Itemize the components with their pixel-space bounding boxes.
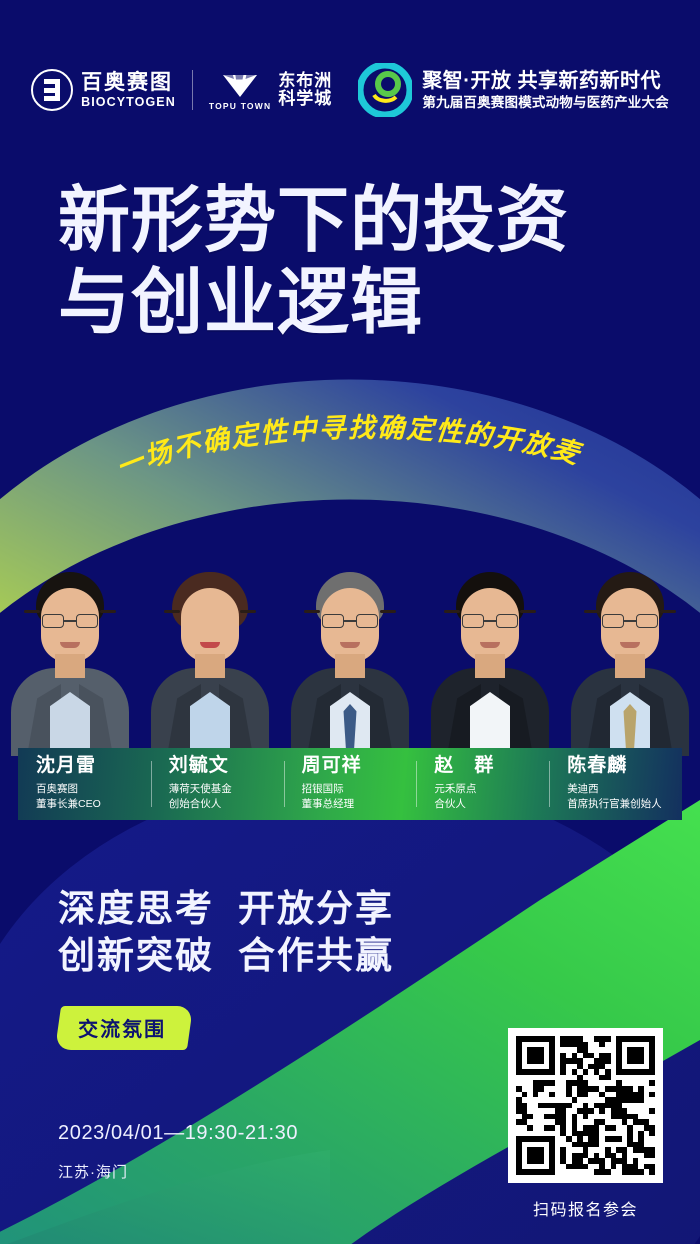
qr-section: 扫码报名参会 — [508, 1028, 663, 1220]
speaker-role: 董事总经理 — [302, 797, 417, 812]
speaker-org: 美迪西 — [567, 782, 682, 797]
logo-divider — [192, 70, 193, 110]
slogan-2a: 创新突破 — [58, 934, 214, 977]
event-datetime: 2023/04/01—19:30-21:30 — [58, 1122, 298, 1145]
qr-code-grid — [516, 1036, 655, 1175]
atmosphere-badge: 交流氛围 — [55, 1006, 193, 1050]
topu-town-logo: TOPU TOWN 东布洲 科学城 — [209, 69, 332, 111]
speaker-photo — [0, 556, 140, 756]
biocytogen-logo-cn: 百奥赛图 — [81, 72, 176, 93]
topu-town-logo-cn-2: 科学城 — [278, 90, 332, 108]
poster-title: 新形势下的投资 与创业逻辑 — [58, 182, 658, 341]
speaker-name: 刘毓文 — [169, 756, 284, 777]
speaker-photo — [560, 556, 700, 756]
event-poster: 百奥赛图 BIOCYTOGEN TOPU TOWN 东布洲 科学城 — [0, 0, 700, 1244]
title-line-2: 与创业逻辑 — [58, 264, 658, 340]
speaker-photo — [140, 556, 280, 756]
speaker-photo — [420, 556, 560, 756]
speaker-role: 创始合伙人 — [169, 797, 284, 812]
script-subtitle: 一场不确定性中寻找确定性的开放麦 — [0, 400, 700, 490]
speaker-name: 周可祥 — [302, 756, 417, 777]
speaker-entry: 陈春麟 美迪西 首席执行官兼创始人 — [549, 748, 682, 820]
header-logos: 百奥赛图 BIOCYTOGEN TOPU TOWN 东布洲 科学城 — [0, 55, 700, 125]
slogan-row-2: 创新突破合作共赢 — [58, 933, 394, 980]
speaker-entry: 周可祥 招银国际 董事总经理 — [284, 748, 417, 820]
biocytogen-logo: 百奥赛图 BIOCYTOGEN — [31, 69, 176, 111]
speaker-role: 首席执行官兼创始人 — [567, 797, 682, 812]
speaker-org: 薄荷天使基金 — [169, 782, 284, 797]
speaker-name: 陈春麟 — [567, 756, 682, 777]
qr-caption: 扫码报名参会 — [508, 1196, 663, 1220]
qr-code[interactable] — [508, 1028, 663, 1183]
event-location: 江苏·海门 — [58, 1161, 128, 1182]
slogan-block: 深度思考开放分享 创新突破合作共赢 — [58, 886, 394, 979]
slogan-1b: 开放分享 — [238, 887, 394, 930]
script-subtitle-text: 一场不确定性中寻找确定性的开放麦 — [112, 413, 586, 484]
slogan-row-1: 深度思考开放分享 — [58, 886, 394, 933]
conference-logo-sub: 第九届百奥赛图模式动物与医药产业大会 — [422, 95, 669, 110]
speaker-entry: 沈月雷 百奥赛图 董事长兼CEO — [18, 748, 151, 820]
biocytogen-logo-en: BIOCYTOGEN — [81, 96, 176, 109]
speaker-org: 百奥赛图 — [36, 782, 151, 797]
conference-logo-main: 聚智·开放 共享新药新时代 — [422, 70, 669, 92]
speaker-name: 赵 群 — [434, 756, 549, 777]
speaker-entry: 刘毓文 薄荷天使基金 创始合伙人 — [151, 748, 284, 820]
speaker-org: 元禾原点 — [434, 782, 549, 797]
topu-town-logo-en: TOPU TOWN — [209, 102, 271, 111]
speaker-role: 合伙人 — [434, 797, 549, 812]
speaker-role: 董事长兼CEO — [36, 797, 151, 812]
speaker-photo — [280, 556, 420, 756]
speaker-name: 沈月雷 — [36, 756, 151, 777]
speaker-photo-row — [0, 556, 700, 756]
topu-town-logo-cn-1: 东布洲 — [278, 72, 332, 90]
speaker-name-bar: 沈月雷 百奥赛图 董事长兼CEO 刘毓文 薄荷天使基金 创始合伙人 周可祥 招银… — [18, 748, 682, 820]
crescent-circle-icon — [358, 63, 412, 117]
conference-logo: 聚智·开放 共享新药新时代 第九届百奥赛图模式动物与医药产业大会 — [358, 63, 669, 117]
slogan-2b: 合作共赢 — [238, 934, 394, 977]
speaker-org: 招银国际 — [302, 782, 417, 797]
atmosphere-badge-label: 交流氛围 — [78, 1013, 166, 1042]
biocytogen-mark-icon — [31, 69, 73, 111]
speaker-entry: 赵 群 元禾原点 合伙人 — [416, 748, 549, 820]
diamond-icon — [220, 69, 260, 99]
title-line-1: 新形势下的投资 — [58, 182, 658, 258]
slogan-1a: 深度思考 — [58, 887, 214, 930]
